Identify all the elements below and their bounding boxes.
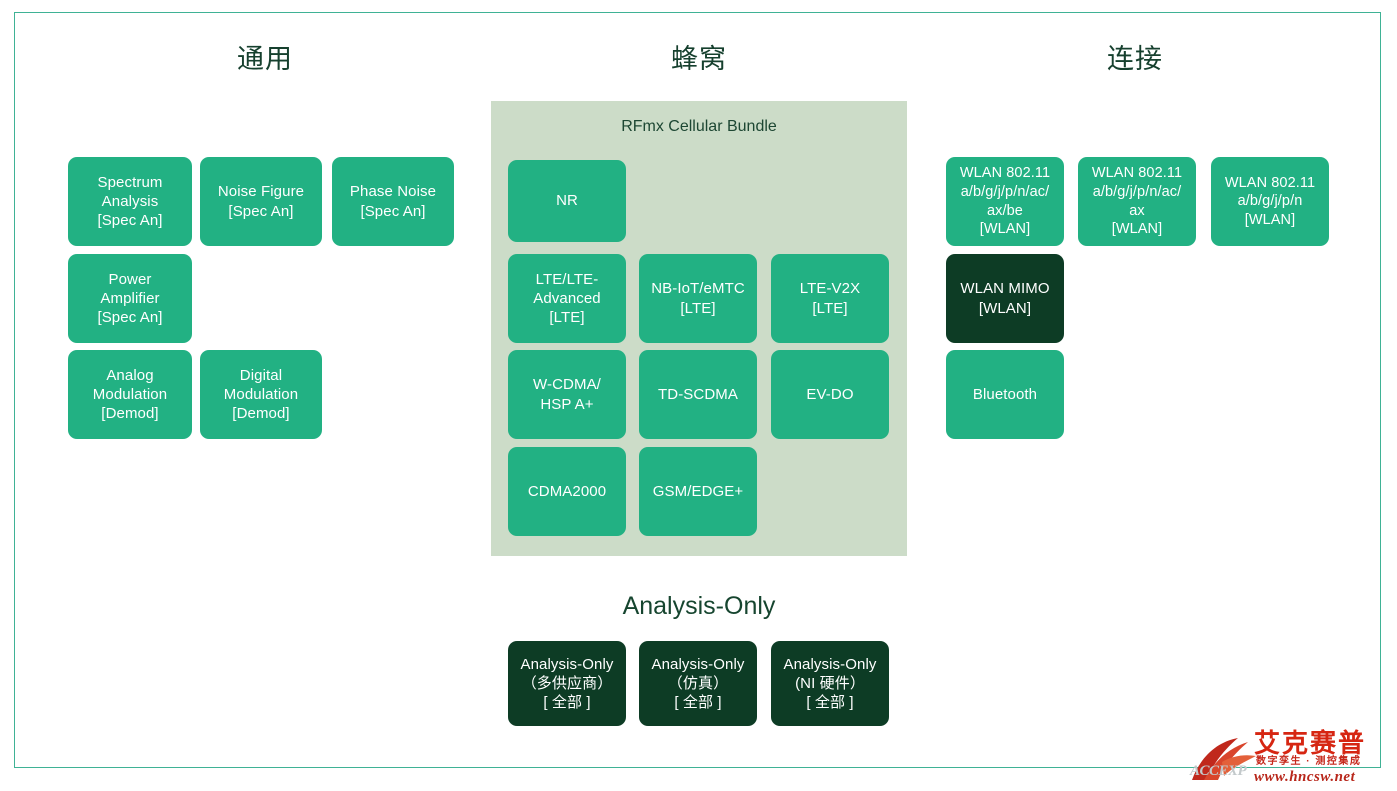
product-box-power-amplifier[interactable]: Power Amplifier [Spec An] [68, 254, 192, 343]
product-box-analysis-only-ni-hardware[interactable]: Analysis-Only (NI 硬件） [ 全部 ] [771, 641, 889, 726]
product-box-wlan-mimo[interactable]: WLAN MIMO [WLAN] [946, 254, 1064, 343]
product-box-gsm-edge[interactable]: GSM/EDGE+ [639, 447, 757, 536]
product-box-analysis-only-multivendor[interactable]: Analysis-Only （多供应商） [ 全部 ] [508, 641, 626, 726]
column-heading-general: 通用 [150, 46, 380, 73]
product-box-nbiot-emtc[interactable]: NB-IoT/eMTC [LTE] [639, 254, 757, 343]
product-box-td-scdma[interactable]: TD-SCDMA [639, 350, 757, 439]
product-box-analog-modulation[interactable]: Analog Modulation [Demod] [68, 350, 192, 439]
column-heading-connectivity: 连接 [1020, 46, 1250, 73]
watermark-mark-text: ACCEXP [1190, 764, 1246, 779]
diagram-canvas: 通用 蜂窝 连接 RFmx Cellular Bundle Spectrum A… [0, 0, 1397, 791]
product-box-digital-modulation[interactable]: Digital Modulation [Demod] [200, 350, 322, 439]
product-box-noise-figure[interactable]: Noise Figure [Spec An] [200, 157, 322, 246]
product-box-lte-v2x[interactable]: LTE-V2X [LTE] [771, 254, 889, 343]
bundle-panel-label: RFmx Cellular Bundle [491, 119, 907, 135]
product-box-bluetooth[interactable]: Bluetooth [946, 350, 1064, 439]
accexp-logo-icon [1186, 732, 1266, 784]
watermark-brand-cn: 艾克赛普 [1254, 730, 1366, 756]
product-box-wlan-80211-n[interactable]: WLAN 802.11 a/b/g/j/p/n [WLAN] [1211, 157, 1329, 246]
watermark-url: www.hncsw.net [1254, 770, 1355, 785]
product-box-wcdma-hspa[interactable]: W-CDMA/ HSP A+ [508, 350, 626, 439]
product-box-wlan-80211-ax[interactable]: WLAN 802.11 a/b/g/j/p/n/ac/ ax [WLAN] [1078, 157, 1196, 246]
product-box-phase-noise[interactable]: Phase Noise [Spec An] [332, 157, 454, 246]
section-heading-analysis-only: Analysis-Only [584, 594, 814, 619]
product-box-lte-advanced[interactable]: LTE/LTE- Advanced [LTE] [508, 254, 626, 343]
product-box-wlan-80211-ax-be[interactable]: WLAN 802.11 a/b/g/j/p/n/ac/ ax/be [WLAN] [946, 157, 1064, 246]
column-heading-cellular: 蜂窝 [584, 46, 814, 73]
product-box-ev-do[interactable]: EV-DO [771, 350, 889, 439]
watermark-logo: ACCEXP 艾克赛普 数字孪生 · 测控集成 www.hncsw.net [1186, 728, 1391, 788]
product-box-spectrum-analysis[interactable]: Spectrum Analysis [Spec An] [68, 157, 192, 246]
product-box-analysis-only-simulation[interactable]: Analysis-Only （仿真） [ 全部 ] [639, 641, 757, 726]
product-box-nr[interactable]: NR [508, 160, 626, 242]
product-box-cdma2000[interactable]: CDMA2000 [508, 447, 626, 536]
watermark-tagline: 数字孪生 · 测控集成 [1256, 757, 1361, 767]
